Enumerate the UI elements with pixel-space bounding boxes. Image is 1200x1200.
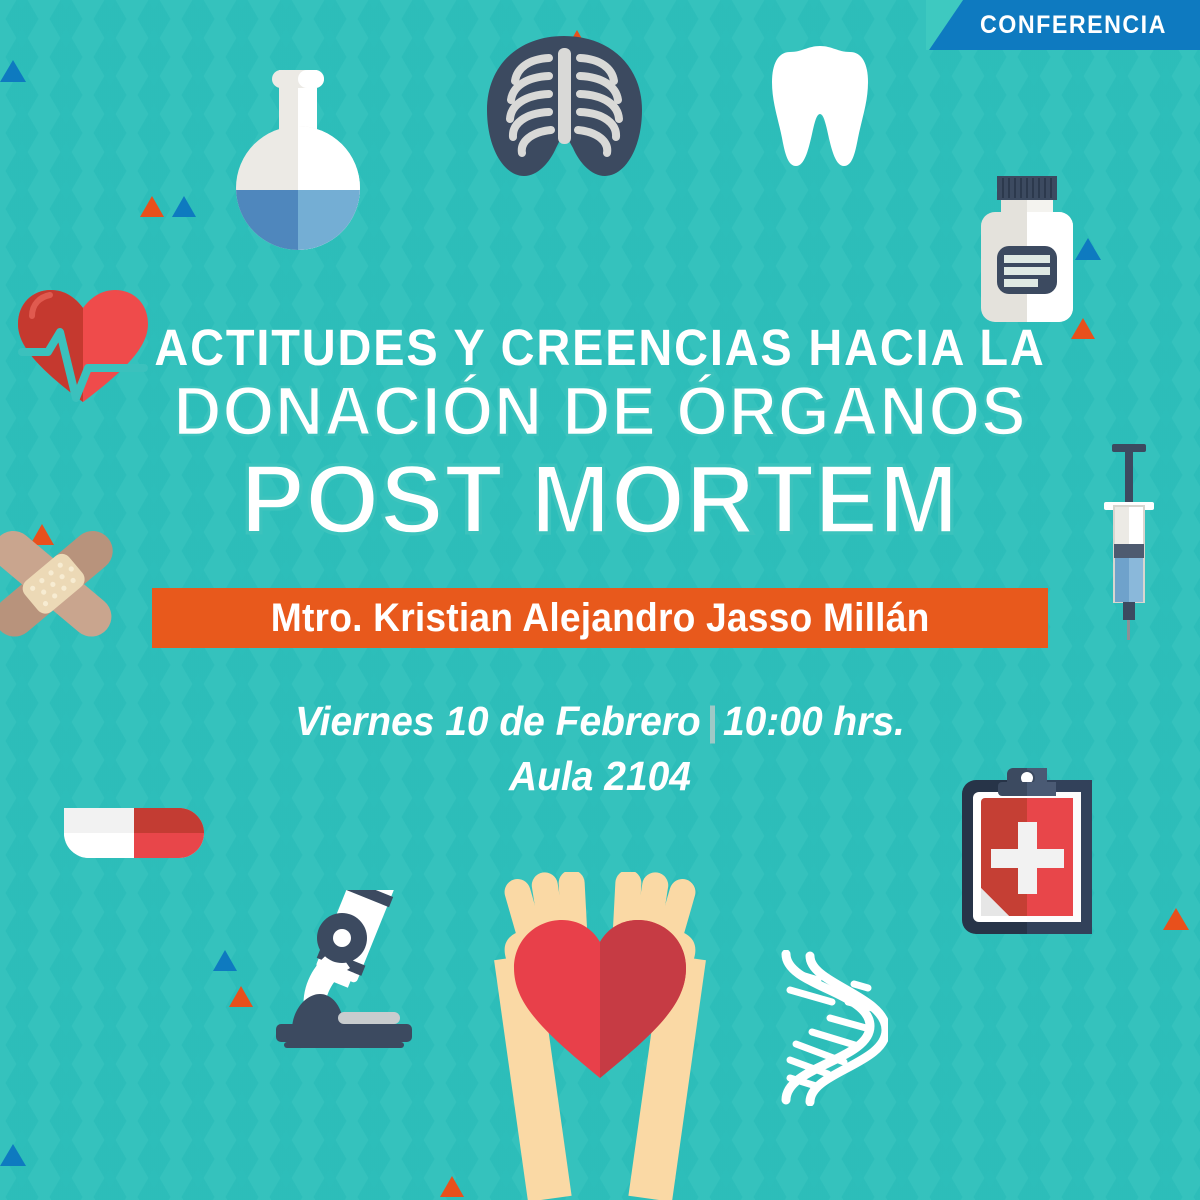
accent-triangle bbox=[172, 196, 196, 217]
accent-triangle bbox=[140, 196, 164, 217]
title-line-3-text: POST MORTEM bbox=[241, 450, 959, 548]
event-details-block: Viernes 10 de Febrero|10:00 hrs. Aula 21… bbox=[0, 694, 1200, 805]
poster-canvas: CONFERENCIA bbox=[0, 0, 1200, 1200]
event-time: 10:00 hrs. bbox=[723, 698, 905, 744]
event-date: Viernes 10 de Febrero bbox=[295, 698, 701, 744]
title-line-2-text: DONACIÓN DE ÓRGANOS bbox=[173, 374, 1026, 450]
pill-bottle-icon bbox=[975, 176, 1079, 322]
accent-triangle bbox=[1163, 908, 1189, 930]
accent-triangle bbox=[213, 950, 237, 971]
speaker-name: Mtro. Kristian Alejandro Jasso Millán bbox=[271, 596, 930, 641]
accent-triangle bbox=[229, 986, 253, 1007]
ribbon-label: CONFERENCIA bbox=[980, 11, 1167, 40]
title-line-3: POST MORTEM bbox=[18, 450, 1182, 548]
dna-icon bbox=[768, 950, 888, 1106]
capsule-icon bbox=[64, 808, 204, 858]
title-line-2: DONACIÓN DE ÓRGANOS bbox=[30, 374, 1170, 450]
accent-triangle bbox=[0, 60, 26, 82]
flask-icon bbox=[236, 70, 360, 250]
hands-heart-icon bbox=[452, 872, 748, 1200]
tooth-icon bbox=[772, 42, 868, 170]
event-room: Aula 2104 bbox=[509, 753, 691, 799]
microscope-icon bbox=[262, 890, 422, 1048]
accent-triangle bbox=[0, 1144, 26, 1166]
title-block: ACTITUDES Y CREENCIAS HACIA LA DONACIÓN … bbox=[0, 322, 1200, 548]
title-line-1: ACTITUDES Y CREENCIAS HACIA LA bbox=[48, 322, 1152, 374]
speaker-name-bar: Mtro. Kristian Alejandro Jasso Millán bbox=[152, 588, 1048, 648]
detail-separator: | bbox=[701, 698, 723, 744]
event-date-time-line: Viernes 10 de Febrero|10:00 hrs. bbox=[30, 694, 1170, 749]
conferencia-ribbon: CONFERENCIA bbox=[929, 0, 1200, 50]
event-room-line: Aula 2104 bbox=[30, 749, 1170, 804]
ribcage-xray-icon bbox=[487, 36, 642, 176]
